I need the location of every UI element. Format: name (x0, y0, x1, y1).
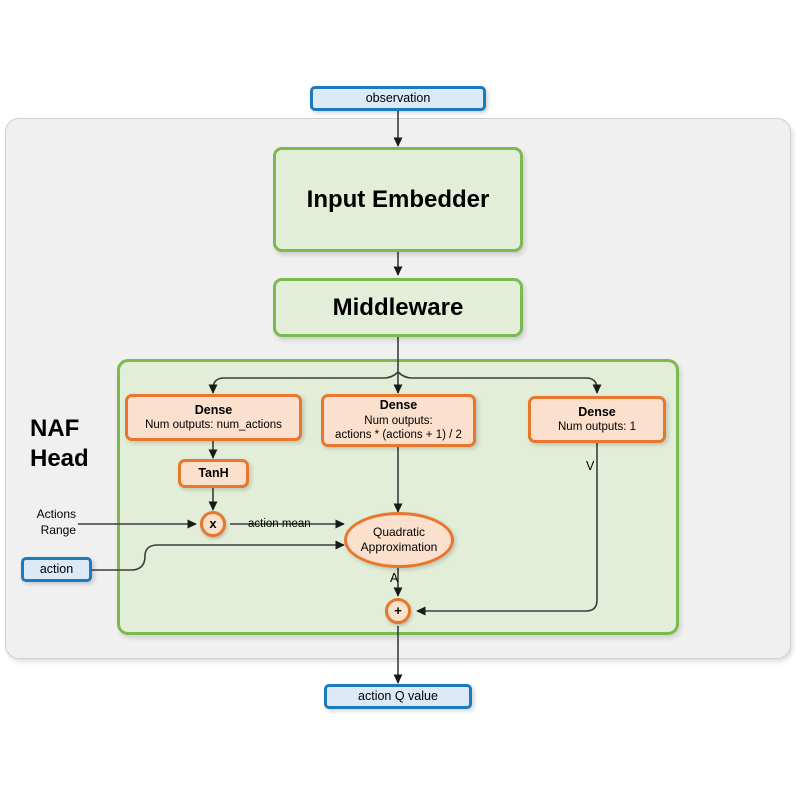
naf-head-title-line1: NAF (30, 414, 120, 444)
dense-quadratic-node[interactable]: Dense Num outputs: actions * (actions + … (321, 394, 476, 447)
quadratic-approximation-node[interactable]: Quadratic Approximation (344, 512, 454, 568)
actions-range-label: Actions Range (8, 507, 76, 538)
tanh-label: TanH (198, 466, 228, 482)
middleware-node[interactable]: Middleware (273, 278, 523, 337)
action-q-value-label: action Q value (358, 689, 438, 705)
naf-head-title-line2: Head (30, 444, 120, 474)
dense-value-subtitle: Num outputs: 1 (558, 420, 636, 434)
action-input-node[interactable]: action (21, 557, 92, 582)
observation-label: observation (366, 91, 431, 107)
middleware-label: Middleware (333, 293, 464, 323)
edge-label-action-mean: action mean (248, 517, 311, 532)
dense-num-actions-subtitle: Num outputs: num_actions (145, 418, 282, 432)
action-q-value-node[interactable]: action Q value (324, 684, 472, 709)
quadratic-approximation-line2: Approximation (361, 540, 438, 555)
edge-label-value-v: V (586, 458, 594, 474)
dense-quadratic-subtitle-1: Num outputs: (364, 414, 432, 428)
quadratic-approximation-line1: Quadratic (373, 525, 425, 540)
input-embedder-node[interactable]: Input Embedder (273, 147, 523, 252)
actions-range-line2: Range (8, 523, 76, 539)
action-input-label: action (40, 562, 73, 578)
observation-node[interactable]: observation (310, 86, 486, 111)
dense-num-actions-node[interactable]: Dense Num outputs: num_actions (125, 394, 302, 441)
actions-range-line1: Actions (8, 507, 76, 523)
add-operator-node[interactable]: + (385, 598, 411, 624)
input-embedder-label: Input Embedder (307, 185, 490, 215)
multiply-operator-label: x (209, 516, 216, 532)
dense-value-node[interactable]: Dense Num outputs: 1 (528, 396, 666, 443)
dense-value-title: Dense (578, 405, 616, 421)
dense-quadratic-subtitle-2: actions * (actions + 1) / 2 (335, 428, 462, 442)
naf-head-title: NAF Head (30, 414, 120, 474)
tanh-node[interactable]: TanH (178, 459, 249, 488)
diagram-canvas: observation Input Embedder Middleware NA… (0, 0, 800, 800)
edge-label-advantage-a: A (390, 570, 398, 586)
dense-quadratic-title: Dense (380, 398, 418, 414)
multiply-operator-node[interactable]: x (200, 511, 226, 537)
dense-num-actions-title: Dense (195, 403, 233, 419)
add-operator-label: + (394, 603, 402, 619)
